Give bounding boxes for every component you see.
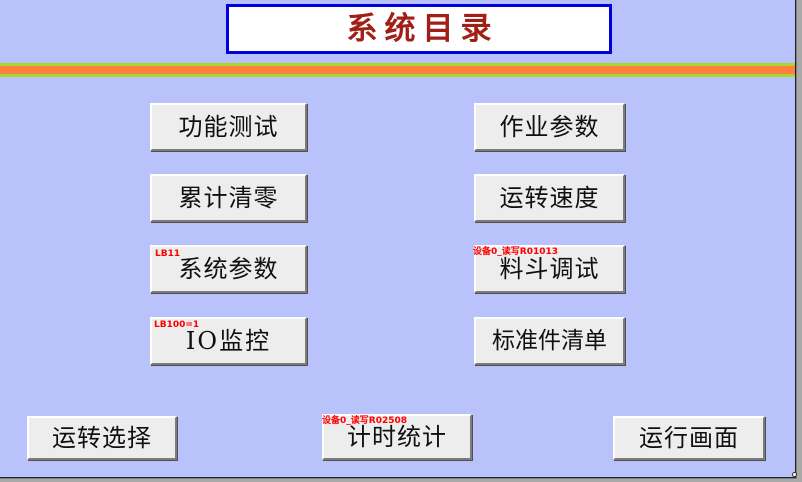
button-total-reset-label: 累计清零 bbox=[179, 186, 279, 210]
hmi-canvas: 系统目录 功能测试 作业参数 累计清零 运转速度 系统参数 LB11 料斗调试 … bbox=[0, 0, 796, 478]
button-function-test[interactable]: 功能测试 bbox=[150, 103, 307, 151]
button-total-reset[interactable]: 累计清零 bbox=[150, 174, 307, 222]
button-system-parameters-label: 系统参数 bbox=[179, 257, 279, 281]
resize-handle-dot[interactable] bbox=[792, 472, 797, 477]
button-io-monitor-label: IO监控 bbox=[186, 329, 271, 353]
button-run-select-label: 运转选择 bbox=[52, 426, 152, 450]
button-hopper-debug[interactable]: 料斗调试 bbox=[474, 245, 625, 293]
button-job-parameters[interactable]: 作业参数 bbox=[474, 103, 625, 151]
page-title: 系统目录 bbox=[340, 14, 499, 45]
window-right-edge bbox=[797, 0, 802, 482]
button-hopper-debug-label: 料斗调试 bbox=[500, 257, 600, 281]
button-running-speed[interactable]: 运转速度 bbox=[474, 174, 625, 222]
button-standard-part-list[interactable]: 标准件清单 bbox=[474, 317, 625, 365]
button-job-parameters-label: 作业参数 bbox=[500, 115, 600, 139]
button-timing-statistics-label: 计时统计 bbox=[347, 425, 447, 449]
page-title-plate: 系统目录 bbox=[226, 4, 612, 54]
button-system-parameters[interactable]: 系统参数 bbox=[150, 245, 307, 293]
separator-bar bbox=[0, 63, 795, 77]
button-run-select[interactable]: 运转选择 bbox=[27, 416, 177, 460]
button-io-monitor[interactable]: IO监控 bbox=[150, 317, 307, 365]
button-timing-statistics[interactable]: 计时统计 bbox=[322, 414, 472, 460]
button-function-test-label: 功能测试 bbox=[179, 115, 279, 139]
button-run-screen-label: 运行画面 bbox=[639, 426, 739, 450]
button-standard-part-list-label: 标准件清单 bbox=[492, 330, 607, 353]
hmi-screen: 系统目录 功能测试 作业参数 累计清零 运转速度 系统参数 LB11 料斗调试 … bbox=[0, 0, 802, 482]
button-run-screen[interactable]: 运行画面 bbox=[613, 416, 765, 460]
button-running-speed-label: 运转速度 bbox=[500, 186, 600, 210]
